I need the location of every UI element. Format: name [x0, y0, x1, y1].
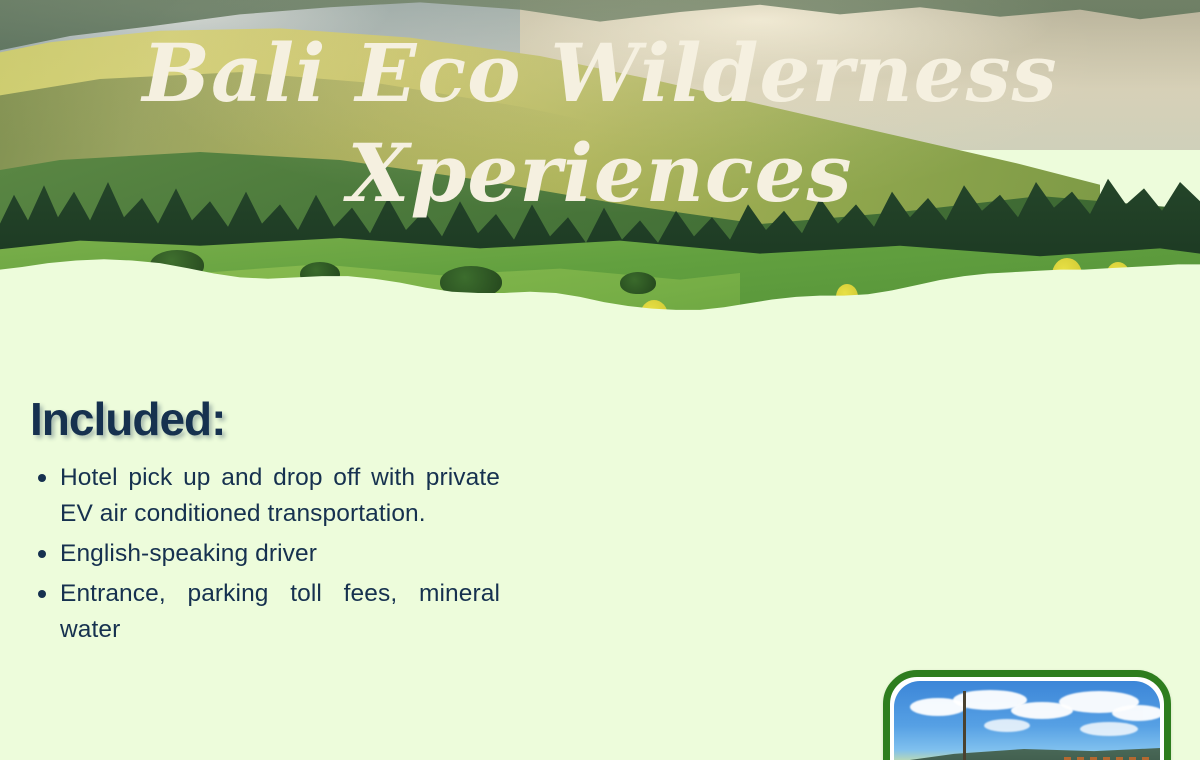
- hero-title-line2: Xperiences: [342, 126, 852, 220]
- photo-card-rice-terrace[interactable]: [883, 670, 1171, 760]
- photo-rice-terrace: [894, 681, 1160, 760]
- list-item: Hotel pick up and drop off with private …: [30, 460, 500, 532]
- included-heading: Included:: [30, 392, 500, 446]
- included-section: Included: Hotel pick up and drop off wit…: [30, 392, 500, 652]
- hero-title-line1: Bali Eco Wilderness: [140, 26, 1057, 120]
- body-area: Included: Hotel pick up and drop off wit…: [0, 330, 1200, 760]
- hero-title: Bali Eco Wilderness Xperiences: [0, 16, 1200, 256]
- poster-root: Bali Eco Wilderness Xperiences Included:…: [0, 0, 1200, 760]
- list-item: Entrance, parking toll fees, mineral wat…: [30, 576, 500, 648]
- included-list: Hotel pick up and drop off with private …: [30, 460, 500, 648]
- bush-icon: [620, 272, 656, 294]
- list-item: English-speaking driver: [30, 536, 500, 572]
- hero-banner: Bali Eco Wilderness Xperiences: [0, 0, 1200, 330]
